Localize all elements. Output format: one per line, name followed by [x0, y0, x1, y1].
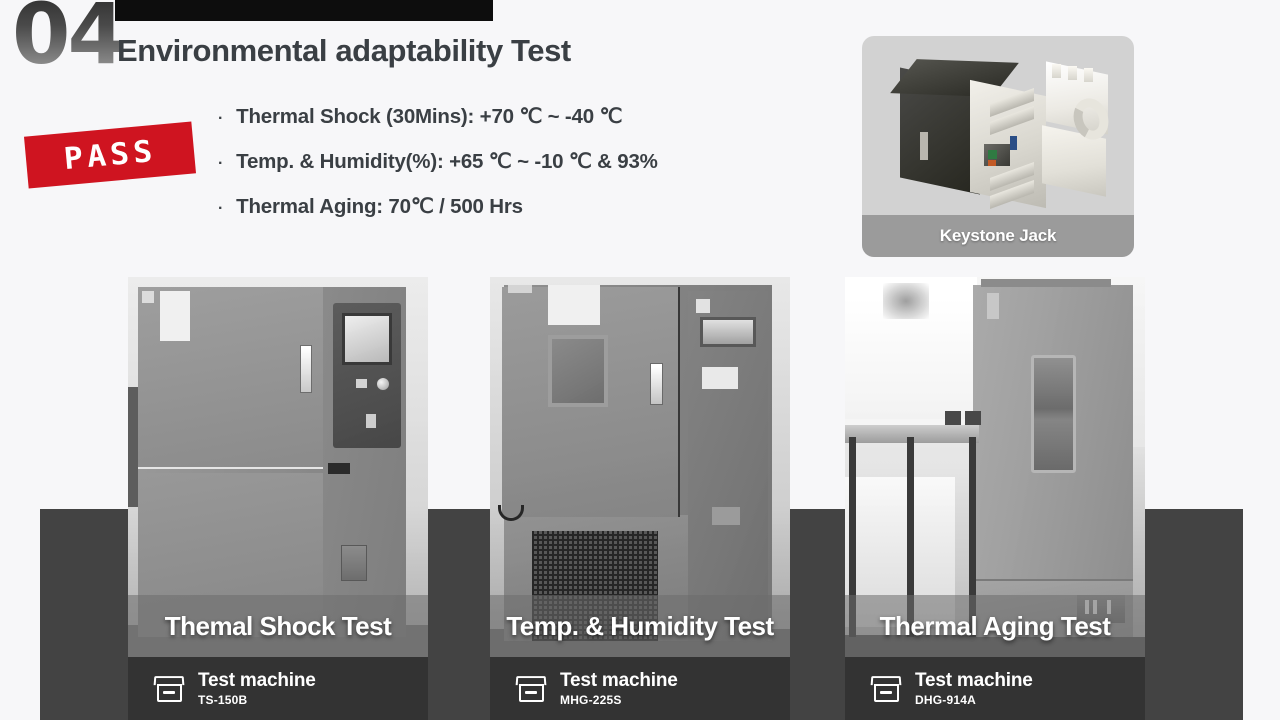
spec-item-text: Temp. & Humidity(%): +65 ℃ ~ -10 ℃ & 93%	[236, 149, 658, 174]
test-card-thermal-aging: Thermal Aging Test Test machine DHG-914A	[845, 277, 1145, 720]
product-card-keystone-jack: Keystone Jack	[862, 36, 1134, 257]
test-card-footer: Test machine DHG-914A	[845, 657, 1145, 720]
test-card-title-overlay: Thermal Aging Test	[845, 595, 1145, 657]
test-card-title: Thermal Aging Test	[845, 611, 1145, 642]
machine-model: MHG-225S	[560, 693, 678, 707]
page-title: Environmental adaptability Test	[117, 33, 571, 69]
product-card-caption: Keystone Jack	[862, 215, 1134, 257]
spec-list: · Thermal Shock (30Mins): +70 ℃ ~ -40 ℃ …	[218, 104, 658, 239]
spec-item-text: Thermal Aging: 70℃ / 500 Hrs	[236, 194, 523, 219]
test-card-footer: Test machine MHG-225S	[490, 657, 790, 720]
test-card-title: Temp. & Humidity Test	[490, 611, 790, 642]
bullet-icon: ·	[218, 111, 223, 127]
archive-box-icon	[871, 676, 901, 702]
product-card-caption-text: Keystone Jack	[940, 226, 1056, 246]
machine-model: TS-150B	[198, 693, 316, 707]
pass-stamp: PASS	[24, 121, 196, 188]
test-card-thermal-shock: Themal Shock Test Test machine TS-150B	[128, 277, 428, 720]
test-card-title-overlay: Themal Shock Test	[128, 595, 428, 657]
machine-label: Test machine	[915, 670, 1033, 692]
spec-item-text: Thermal Shock (30Mins): +70 ℃ ~ -40 ℃	[236, 104, 622, 129]
machine-model: DHG-914A	[915, 693, 1033, 707]
machine-label: Test machine	[198, 670, 316, 692]
pass-stamp-label: PASS	[62, 133, 157, 176]
test-card-title-overlay: Temp. & Humidity Test	[490, 595, 790, 657]
test-machine-photo: Themal Shock Test	[128, 277, 428, 657]
archive-box-icon	[154, 676, 184, 702]
test-card-temp-humidity: Temp. & Humidity Test Test machine MHG-2…	[490, 277, 790, 720]
bullet-icon: ·	[218, 201, 223, 217]
section-number: 04	[12, 0, 123, 76]
archive-box-icon	[516, 676, 546, 702]
spec-item: · Temp. & Humidity(%): +65 ℃ ~ -10 ℃ & 9…	[218, 149, 658, 174]
bullet-icon: ·	[218, 156, 223, 172]
test-machine-photo: Temp. & Humidity Test	[490, 277, 790, 657]
spec-item: · Thermal Aging: 70℃ / 500 Hrs	[218, 194, 658, 219]
test-card-footer: Test machine TS-150B	[128, 657, 428, 720]
spec-item: · Thermal Shock (30Mins): +70 ℃ ~ -40 ℃	[218, 104, 658, 129]
machine-label: Test machine	[560, 670, 678, 692]
test-machine-photo: Thermal Aging Test	[845, 277, 1145, 657]
test-card-title: Themal Shock Test	[128, 611, 428, 642]
